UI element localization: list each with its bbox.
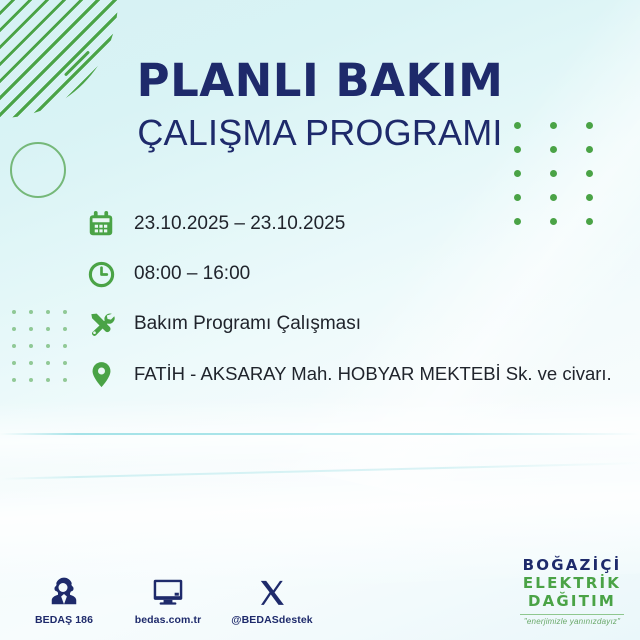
- brand-line-dagitim: DAĞITIM: [520, 594, 624, 609]
- brand-line-elektrik: ELEKTRİK: [520, 576, 624, 591]
- bedas-logo: BOĞAZİÇİ ELEKTRİK DAĞITIM "enerjimizle y…: [520, 558, 624, 626]
- detail-row-date: 23.10.2025 – 23.10.2025: [84, 200, 624, 248]
- planned-maintenance-poster: PLANLI BAKIM ÇALIŞMA PROGRAMI 23: [0, 0, 640, 640]
- poster-footer: BEDAŞ 186 bedas.com.tr: [0, 550, 640, 640]
- detail-row-time: 08:00 – 16:00: [84, 250, 624, 298]
- contact-label-x: @BEDASdestek: [231, 614, 312, 626]
- contact-phone[interactable]: BEDAŞ 186: [26, 573, 102, 626]
- brand-tagline: "enerjimizle yanınızdayız": [520, 618, 624, 626]
- detail-text-date: 23.10.2025 – 23.10.2025: [134, 213, 345, 235]
- contact-label-phone: BEDAŞ 186: [35, 614, 93, 626]
- calendar-icon: [84, 207, 118, 241]
- detail-row-location: FATİH - AKSARAY Mah. HOBYAR MEKTEBİ Sk. …: [84, 350, 624, 398]
- monitor-icon: [152, 573, 184, 607]
- poster-header: PLANLI BAKIM ÇALIŞMA PROGRAMI: [0, 58, 640, 151]
- background-wave-line-2: [0, 462, 640, 480]
- headset-support-icon: [49, 573, 79, 607]
- detail-text-location: FATİH - AKSARAY Mah. HOBYAR MEKTEBİ Sk. …: [134, 363, 612, 385]
- contact-website[interactable]: bedas.com.tr: [130, 573, 206, 626]
- contact-label-website: bedas.com.tr: [135, 614, 202, 626]
- detail-row-worktype: Bakım Programı Çalışması: [84, 300, 624, 348]
- dot-grid-left: [12, 310, 80, 395]
- x-twitter-icon: [258, 573, 286, 607]
- clock-icon: [84, 257, 118, 291]
- contact-x-account[interactable]: @BEDASdestek: [234, 573, 310, 626]
- page-subtitle: ÇALIŞMA PROGRAMI: [0, 115, 640, 151]
- location-pin-icon: [84, 357, 118, 391]
- detail-text-worktype: Bakım Programı Çalışması: [134, 313, 361, 335]
- page-title: PLANLI BAKIM: [0, 58, 640, 103]
- detail-text-time: 08:00 – 16:00: [134, 263, 250, 285]
- brand-line-bogazici: BOĞAZİÇİ: [520, 558, 624, 573]
- maintenance-details-list: 23.10.2025 – 23.10.2025 08:00 – 16:00 Ba…: [84, 200, 624, 400]
- background-wave-line-1: [0, 433, 640, 435]
- brand-divider: [520, 614, 624, 615]
- contact-channels: BEDAŞ 186 bedas.com.tr: [26, 573, 310, 626]
- tools-icon: [84, 307, 118, 341]
